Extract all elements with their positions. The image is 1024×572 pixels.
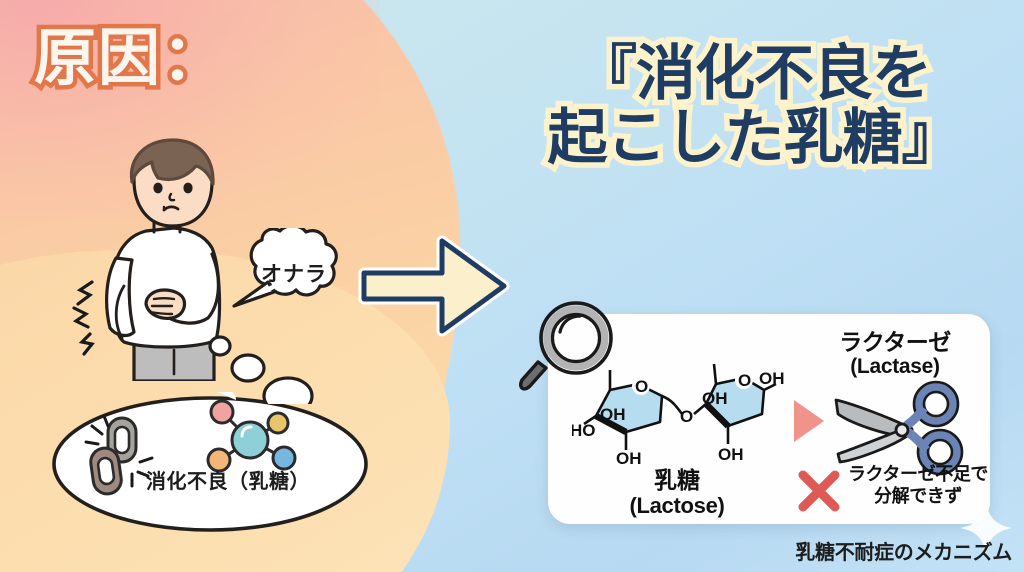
right-arrow [358, 231, 510, 341]
infographic-canvas: 原因： 『消化不良を 起こした乳糖』 [0, 0, 1024, 572]
main-title-line-1: 『消化不良を [577, 40, 931, 107]
no-digestion-line-1: ラクターゼ不足で [842, 464, 994, 486]
thought-trail-circles [196, 334, 316, 404]
svg-text:OH: OH [702, 389, 728, 408]
svg-text:OH: OH [759, 369, 784, 388]
main-title-line-2: 起こした乳糖』 [496, 106, 1012, 170]
svg-text:OH: OH [600, 405, 626, 424]
svg-text:OH: OH [718, 445, 744, 464]
thought-bubble-label: 消化不良（乳糖） [118, 465, 338, 494]
lactase-label: ラクターゼ (Lactase) [800, 330, 990, 378]
lactose-label-en: (Lactose) [566, 494, 788, 519]
lactose-label: 乳糖 (Lactose) [566, 468, 788, 518]
svg-text:O: O [635, 377, 648, 396]
svg-text:OH: OH [616, 449, 642, 468]
red-x-icon [796, 468, 842, 514]
lactase-label-en: (Lactase) [800, 355, 990, 378]
svg-text:HO: HO [572, 421, 596, 440]
pain-marks-icon [74, 282, 92, 354]
svg-text:O: O [680, 407, 693, 426]
scissors-icon [832, 378, 964, 476]
lactase-label-jp: ラクターゼ [800, 330, 990, 355]
lactose-label-jp: 乳糖 [566, 468, 788, 494]
play-triangle-icon [792, 398, 826, 444]
lactose-structure-diagram: O OH HO OH O O OH OH OH [572, 356, 784, 478]
svg-text:O: O [738, 371, 751, 390]
cause-heading: 原因： [34, 28, 226, 90]
main-title: 『消化不良を 起こした乳糖』 [496, 42, 1012, 169]
footer-caption: 乳糖不耐症のメカニズム [760, 536, 1012, 565]
speech-bubble-text: オナラ [244, 258, 344, 288]
